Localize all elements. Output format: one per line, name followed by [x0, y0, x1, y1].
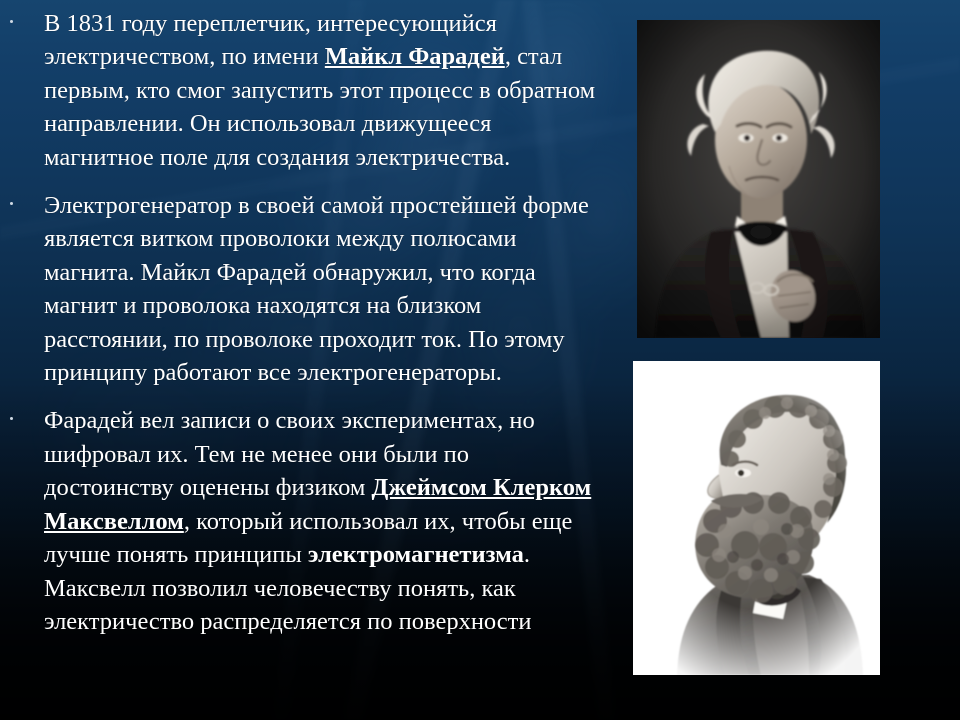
bullet-2-run-0: Электрогенератор в своей самой простейше…	[44, 192, 589, 386]
photo-james-clerk-maxwell	[633, 361, 880, 675]
slide-text-content: В 1831 году переплетчик, интересующийся …	[0, 0, 620, 720]
bullet-item-2: Электрогенератор в своей самой простейше…	[0, 189, 620, 389]
photo-michael-faraday	[637, 20, 880, 338]
bullet-item-3: Фарадей вел записи о своих экспериментах…	[0, 404, 620, 638]
bullet-dot-icon	[10, 417, 13, 420]
bullet-1-run-1-michael-faraday: Майкл Фарадей	[325, 43, 505, 70]
bullet-dot-icon	[10, 202, 13, 205]
slide-canvas: В 1831 году переплетчик, интересующийся …	[0, 0, 960, 720]
bullet-list: В 1831 году переплетчик, интересующийся …	[0, 7, 620, 638]
faraday-portrait-graphic	[637, 20, 880, 338]
bullet-3-run-3-electromagnetism: электромагнетизма	[308, 541, 524, 568]
bullet-dot-icon	[10, 20, 13, 23]
bullet-item-1: В 1831 году переплетчик, интересующийся …	[0, 7, 620, 174]
maxwell-portrait-graphic	[633, 361, 880, 675]
